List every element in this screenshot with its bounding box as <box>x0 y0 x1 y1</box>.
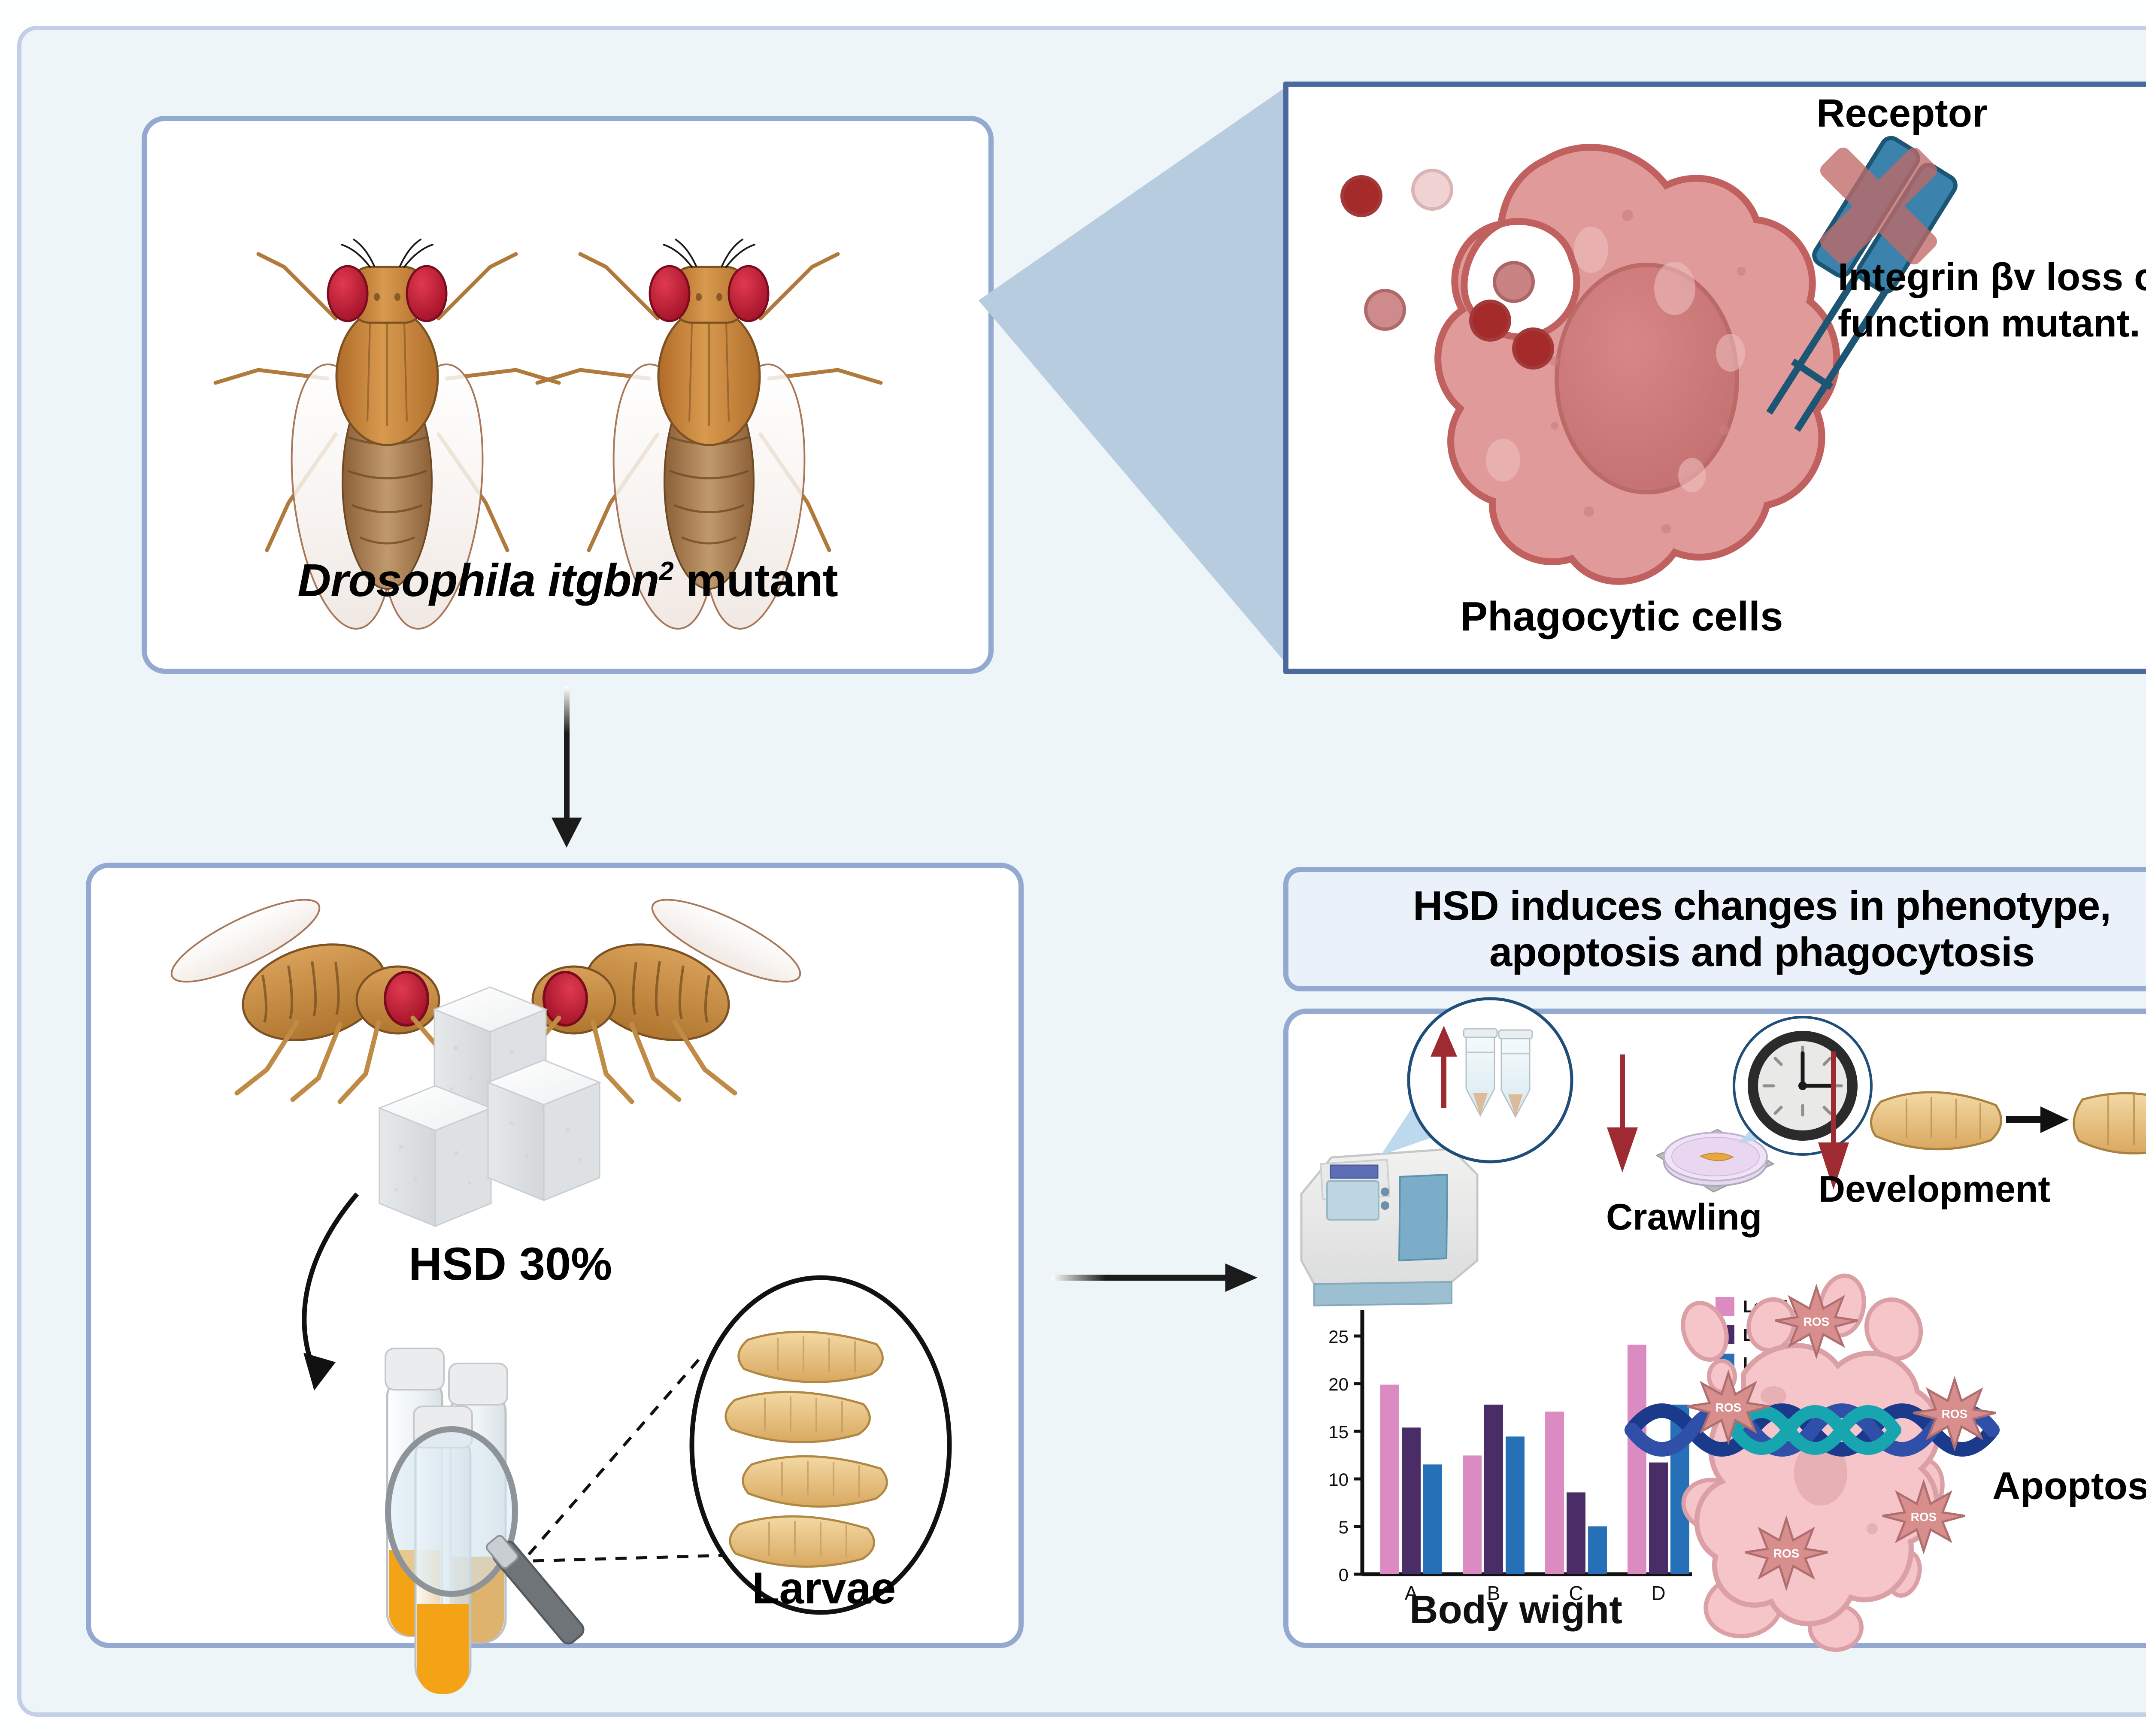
panel-hsd-treatment: HSD 30% Larvae <box>86 863 1024 1648</box>
spectrophotometer-icon <box>1301 1149 1477 1306</box>
chart-bar <box>1484 1405 1503 1574</box>
svg-text:10: 10 <box>1328 1469 1349 1490</box>
ros-label: ROS <box>1911 1510 1937 1524</box>
allele-superscript: 2 <box>659 557 673 586</box>
chart-bar <box>1588 1526 1607 1574</box>
development-label: Development <box>1819 1168 2050 1211</box>
arrow-dev-stage <box>2006 1106 2069 1133</box>
clock-icon <box>1734 1017 1871 1154</box>
chart-xtick-label: D <box>1651 1582 1665 1604</box>
chart-title: Body wight <box>1409 1588 1622 1632</box>
chart-bar <box>1545 1412 1564 1574</box>
caption-tail: mutant <box>673 554 838 606</box>
chart-bar <box>1423 1464 1442 1574</box>
outcomes-header-line2: apoptosis and phagocytosis <box>1413 929 2111 976</box>
panel-phagocytic-cells: Receptor Integrin βv loss of function mu… <box>1283 82 2146 674</box>
larva-to-pupa-icon <box>1871 1092 2146 1154</box>
chart-bar <box>1649 1463 1668 1574</box>
chart-bar <box>1628 1345 1646 1574</box>
integrin-mutant-label: Integrin βv loss of function mutant. <box>1838 254 2146 347</box>
chart-bar <box>1463 1455 1482 1574</box>
chart-bar <box>1567 1492 1585 1574</box>
phagocyte-nucleus <box>1557 265 1737 492</box>
eppendorf-tubes-callout <box>1409 999 1572 1162</box>
larvae-callout <box>692 1278 949 1612</box>
larvae-label: Larvae <box>752 1563 896 1614</box>
panel-drosophila-mutant: Drosophila itgbn2 mutant <box>142 116 994 674</box>
outcomes-header: HSD induces changes in phenotype, apopto… <box>1283 867 2146 991</box>
svg-text:15: 15 <box>1328 1422 1349 1442</box>
chart-bars <box>1380 1345 1689 1574</box>
drosophila-side-right <box>533 885 809 1102</box>
apoptosis-label: Apoptosis <box>1992 1464 2146 1509</box>
outcomes-header-text: HSD induces changes in phenotype, apopto… <box>1413 883 2111 975</box>
integrin-mutant-line1: Integrin βv loss of <box>1838 254 2146 300</box>
fly-panel-caption: Drosophila itgbn2 mutant <box>147 554 988 606</box>
panel-outcomes: 0510 152025 ABCD Label i Label ii Label … <box>1283 1009 2146 1648</box>
ros-label: ROS <box>1942 1407 1968 1421</box>
chart-ytick-labels: 0510 152025 <box>1328 1327 1349 1585</box>
hsd-curved-arrow <box>303 1194 357 1391</box>
species-name: Drosophila itgbn <box>297 554 659 606</box>
ros-label: ROS <box>1803 1315 1830 1328</box>
ros-label: ROS <box>1716 1401 1742 1414</box>
chart-bar <box>1380 1385 1399 1574</box>
crawling-label: Crawling <box>1606 1196 1762 1239</box>
arrow-down-crawling <box>1607 1054 1638 1172</box>
svg-text:5: 5 <box>1339 1517 1349 1537</box>
drosophila-side-left <box>162 885 439 1102</box>
chart-bar <box>1506 1436 1525 1574</box>
hsd-label: HSD 30% <box>409 1237 612 1291</box>
svg-text:20: 20 <box>1328 1374 1349 1394</box>
arrow-down-flies-to-hsd <box>528 687 631 858</box>
arrow-right-hsd-to-outcomes <box>1052 1245 1292 1322</box>
svg-text:0: 0 <box>1339 1565 1349 1585</box>
ros-label: ROS <box>1773 1547 1800 1560</box>
phagocytic-cells-label: Phagocytic cells <box>1460 593 1783 640</box>
chart-bar <box>1402 1427 1421 1574</box>
integrin-mutant-line2: function mutant. <box>1838 300 2146 347</box>
receptor-label: Receptor <box>1816 91 1988 136</box>
svg-text:25: 25 <box>1328 1327 1349 1347</box>
zoom-wedge-connector <box>979 77 1322 678</box>
outcomes-header-line1: HSD induces changes in phenotype, <box>1413 883 2111 929</box>
